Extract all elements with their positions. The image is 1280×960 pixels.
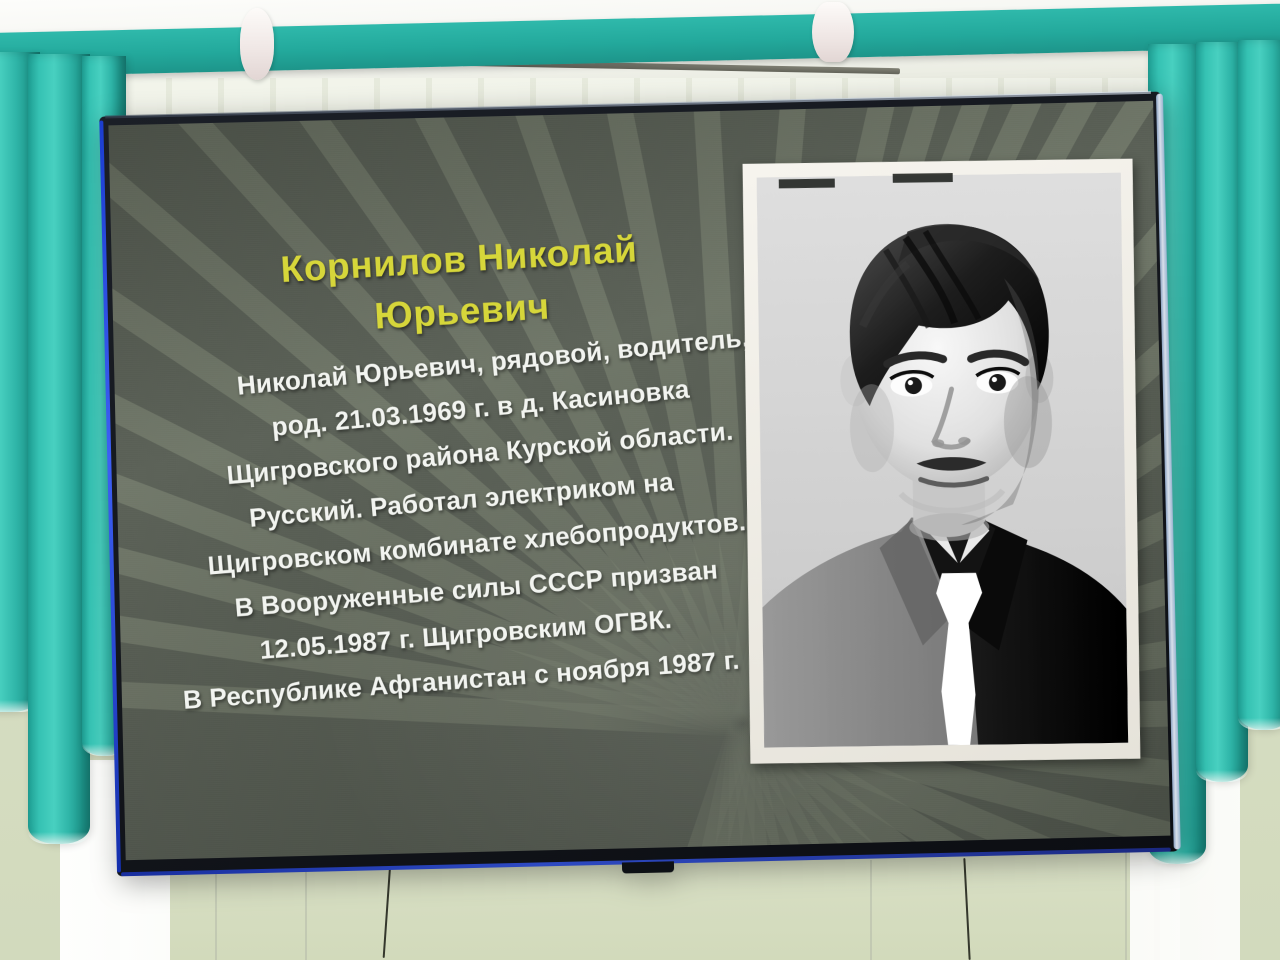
photo-tape-left xyxy=(779,179,835,189)
slide-biography-text: Николай Юрьевич, рядовой, водитель, род.… xyxy=(133,337,824,719)
portrait-photo-frame xyxy=(743,159,1141,764)
curtain-tieback-left xyxy=(240,8,274,80)
blind-seam xyxy=(870,860,872,960)
tv-mount-bracket xyxy=(622,861,674,873)
portrait-photo xyxy=(757,173,1128,748)
curtain-panel-left-2 xyxy=(28,54,90,844)
wall-mounted-tv[interactable]: Корнилов Николай Юрьевич Николай Юрьевич… xyxy=(99,92,1179,877)
curtain-tieback-right xyxy=(812,2,854,62)
curtain-panel-right-3 xyxy=(1238,40,1280,730)
blind-seam xyxy=(305,860,307,960)
tv-bezel: Корнилов Николай Юрьевич Николай Юрьевич… xyxy=(99,92,1179,877)
photo-tape-right xyxy=(893,173,953,183)
presentation-slide: Корнилов Николай Юрьевич Николай Юрьевич… xyxy=(108,101,1170,860)
